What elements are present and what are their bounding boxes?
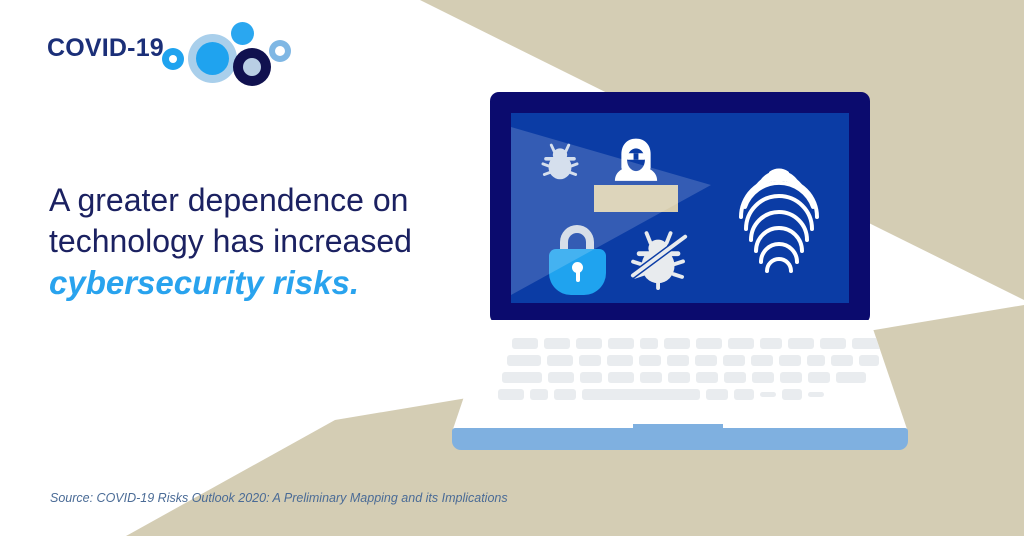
logo-dot-small-left-icon xyxy=(162,48,184,70)
logo-wordmark: COVID-19 xyxy=(47,34,164,63)
key xyxy=(724,372,746,383)
headline: A greater dependence on technology has i… xyxy=(49,180,479,303)
keyboard-row-2 xyxy=(507,355,879,366)
key xyxy=(530,389,548,400)
keyboard-row-4 xyxy=(498,389,824,400)
key xyxy=(607,355,633,366)
logo-dot-small-top-icon xyxy=(231,22,254,45)
key xyxy=(728,338,754,349)
padlock-body xyxy=(549,249,606,295)
hacker-desk xyxy=(594,185,678,212)
key xyxy=(696,338,722,349)
padlock-keyhole xyxy=(572,262,583,273)
fingerprint-icon xyxy=(733,157,825,275)
headline-line-1: A greater dependence on xyxy=(49,182,408,218)
key xyxy=(667,355,689,366)
key xyxy=(723,355,745,366)
key xyxy=(831,355,853,366)
keyboard-row-3 xyxy=(502,372,866,383)
key xyxy=(668,372,690,383)
key xyxy=(752,372,774,383)
key xyxy=(548,372,574,383)
key xyxy=(780,372,802,383)
key xyxy=(502,372,542,383)
logo-dot-small-right-icon xyxy=(269,40,291,62)
key xyxy=(579,355,601,366)
key xyxy=(751,355,773,366)
key xyxy=(859,355,879,366)
key xyxy=(640,372,662,383)
key xyxy=(779,355,801,366)
key xyxy=(507,355,541,366)
key xyxy=(760,338,782,349)
keyboard-row-1 xyxy=(512,338,886,349)
key xyxy=(852,338,886,349)
headline-line-2: technology has increased xyxy=(49,223,412,259)
laptop-screen xyxy=(511,113,849,303)
key xyxy=(512,338,538,349)
laptop-lid xyxy=(490,92,870,324)
logo-dot-large-center-icon xyxy=(188,34,237,83)
key xyxy=(782,389,802,400)
key xyxy=(760,392,776,397)
key xyxy=(639,355,661,366)
key xyxy=(836,372,866,383)
key xyxy=(576,338,602,349)
light-beam-edge xyxy=(468,71,490,303)
key xyxy=(695,355,717,366)
key xyxy=(498,389,524,400)
laptop-illustration xyxy=(440,92,920,470)
key xyxy=(706,389,728,400)
key xyxy=(820,338,846,349)
headline-accent: cybersecurity risks. xyxy=(49,262,479,303)
key xyxy=(640,338,658,349)
key xyxy=(808,372,830,383)
logo-dot-ring-navy-icon xyxy=(233,48,271,86)
key xyxy=(696,372,718,383)
key xyxy=(544,338,570,349)
key xyxy=(807,355,825,366)
bug-icon xyxy=(537,139,583,185)
key xyxy=(554,389,576,400)
key xyxy=(808,392,824,397)
bug-blocked-icon xyxy=(629,225,691,291)
covid19-logo: COVID-19 xyxy=(47,22,287,74)
key xyxy=(788,338,814,349)
spacebar-key xyxy=(582,389,700,400)
laptop-base xyxy=(452,428,908,450)
key xyxy=(664,338,690,349)
padlock-icon xyxy=(549,225,606,295)
key xyxy=(734,389,754,400)
key xyxy=(608,372,634,383)
infographic-canvas: COVID-19 A greater dependence on technol… xyxy=(0,0,1024,536)
key xyxy=(580,372,602,383)
key xyxy=(608,338,634,349)
key xyxy=(547,355,573,366)
source-citation: Source: COVID-19 Risks Outlook 2020: A P… xyxy=(50,491,508,505)
hacker-icon xyxy=(610,135,662,191)
